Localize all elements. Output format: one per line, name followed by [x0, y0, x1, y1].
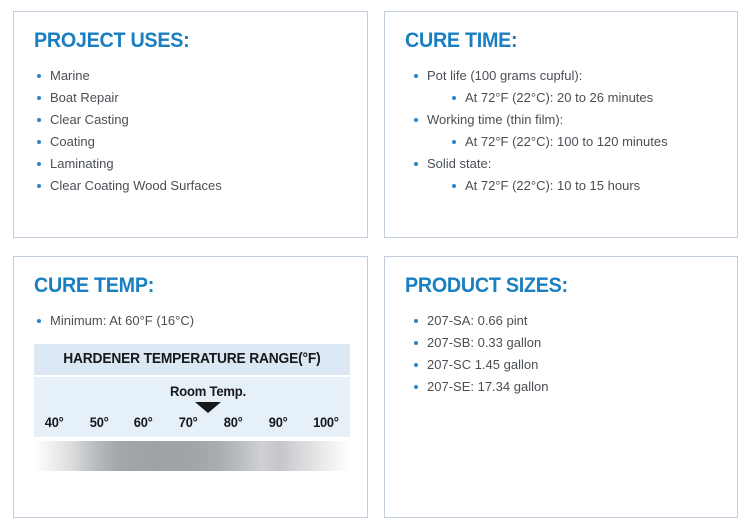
- spec-sheet-page: PROJECT USES: Marine Boat Repair Clear C…: [0, 0, 750, 522]
- list-item: 207-SA: 0.66 pint: [411, 310, 717, 332]
- room-temp-annotation: Room Temp.: [34, 383, 350, 403]
- tick-label: 70°: [179, 414, 198, 430]
- sub-list: At 72°F (22°C): 10 to 15 hours: [427, 175, 717, 197]
- cure-time-list: Pot life (100 grams cupful): At 72°F (22…: [411, 65, 717, 197]
- product-sizes-list: 207-SA: 0.66 pint 207-SB: 0.33 gallon 20…: [411, 310, 717, 398]
- cure-temp-list: Minimum: At 60°F (16°C): [34, 310, 347, 332]
- chart-tick-labels: 40° 50° 60° 70° 80° 90° 100°: [34, 403, 350, 432]
- panel-project-uses: PROJECT USES: Marine Boat Repair Clear C…: [13, 11, 368, 238]
- list-item-label: Coating: [50, 134, 95, 149]
- list-item-label: Minimum: At 60°F (16°C): [50, 313, 194, 328]
- tick-label: 40°: [45, 414, 64, 430]
- list-item-label: 207-SA: 0.66 pint: [427, 313, 527, 328]
- tick-label: 100°: [313, 414, 339, 430]
- list-item: 207-SB: 0.33 gallon: [411, 332, 717, 354]
- sub-list-item-label: At 72°F (22°C): 10 to 15 hours: [465, 178, 640, 193]
- panel-title-product-sizes: PRODUCT SIZES:: [405, 275, 698, 296]
- sub-list: At 72°F (22°C): 20 to 26 minutes: [427, 87, 717, 109]
- panel-cure-time: CURE TIME: Pot life (100 grams cupful): …: [384, 11, 738, 238]
- list-item: Coating: [34, 131, 347, 153]
- list-item: Working time (thin film): At 72°F (22°C)…: [411, 109, 717, 153]
- list-item-label: Marine: [50, 68, 90, 83]
- project-uses-list: Marine Boat Repair Clear Casting Coating…: [34, 65, 347, 197]
- tick-label: 80°: [224, 414, 243, 430]
- panel-body: CURE TIME: Pot life (100 grams cupful): …: [385, 12, 737, 237]
- list-item: Solid state: At 72°F (22°C): 10 to 15 ho…: [411, 153, 717, 197]
- chart-title: HARDENER TEMPERATURE RANGE(°F): [63, 350, 320, 367]
- panel-cure-temp: CURE TEMP: Minimum: At 60°F (16°C) HARDE…: [13, 256, 368, 518]
- list-item: 207-SE: 17.34 gallon: [411, 376, 717, 398]
- list-item: 207-SC 1.45 gallon: [411, 354, 717, 376]
- list-item: Minimum: At 60°F (16°C): [34, 310, 347, 332]
- chart-header-band: HARDENER TEMPERATURE RANGE(°F): [34, 344, 350, 375]
- panel-body: PRODUCT SIZES: 207-SA: 0.66 pint 207-SB:…: [385, 257, 737, 517]
- list-item: Clear Coating Wood Surfaces: [34, 175, 347, 197]
- panel-title-cure-time: CURE TIME:: [405, 30, 698, 51]
- list-item-label: Clear Casting: [50, 112, 129, 127]
- panel-title-project-uses: PROJECT USES:: [34, 30, 328, 51]
- temperature-gradient-band: [34, 441, 350, 471]
- panel-title-cure-temp: CURE TEMP:: [34, 275, 328, 296]
- sub-list-item: At 72°F (22°C): 20 to 26 minutes: [449, 87, 717, 109]
- panel-product-sizes: PRODUCT SIZES: 207-SA: 0.66 pint 207-SB:…: [384, 256, 738, 518]
- room-temp-label: Room Temp.: [170, 383, 246, 399]
- tick-label: 60°: [134, 414, 153, 430]
- list-item-label: Solid state:: [427, 156, 491, 171]
- list-item-label: Working time (thin film):: [427, 112, 563, 127]
- panel-body: CURE TEMP: Minimum: At 60°F (16°C) HARDE…: [14, 257, 367, 517]
- sub-list-item: At 72°F (22°C): 100 to 120 minutes: [449, 131, 717, 153]
- list-item-label: 207-SE: 17.34 gallon: [427, 379, 548, 394]
- hardener-temperature-range-chart: HARDENER TEMPERATURE RANGE(°F) Room Temp…: [34, 344, 350, 471]
- panel-body: PROJECT USES: Marine Boat Repair Clear C…: [14, 12, 367, 237]
- list-item-label: 207-SB: 0.33 gallon: [427, 335, 541, 350]
- down-arrow-icon: [195, 402, 221, 413]
- list-item: Clear Casting: [34, 109, 347, 131]
- list-item-label: Clear Coating Wood Surfaces: [50, 178, 222, 193]
- list-item: Boat Repair: [34, 87, 347, 109]
- chart-scale-band: Room Temp. 40° 50° 60° 70° 80° 90° 100°: [34, 377, 350, 437]
- list-item: Laminating: [34, 153, 347, 175]
- sub-list-item-label: At 72°F (22°C): 20 to 26 minutes: [465, 90, 653, 105]
- sub-list: At 72°F (22°C): 100 to 120 minutes: [427, 131, 717, 153]
- list-item-label: Boat Repair: [50, 90, 119, 105]
- list-item: Marine: [34, 65, 347, 87]
- list-item-label: 207-SC 1.45 gallon: [427, 357, 538, 372]
- tick-label: 90°: [268, 414, 287, 430]
- sub-list-item: At 72°F (22°C): 10 to 15 hours: [449, 175, 717, 197]
- list-item-label: Pot life (100 grams cupful):: [427, 68, 582, 83]
- sub-list-item-label: At 72°F (22°C): 100 to 120 minutes: [465, 134, 668, 149]
- list-item: Pot life (100 grams cupful): At 72°F (22…: [411, 65, 717, 109]
- list-item-label: Laminating: [50, 156, 114, 171]
- tick-label: 50°: [90, 414, 109, 430]
